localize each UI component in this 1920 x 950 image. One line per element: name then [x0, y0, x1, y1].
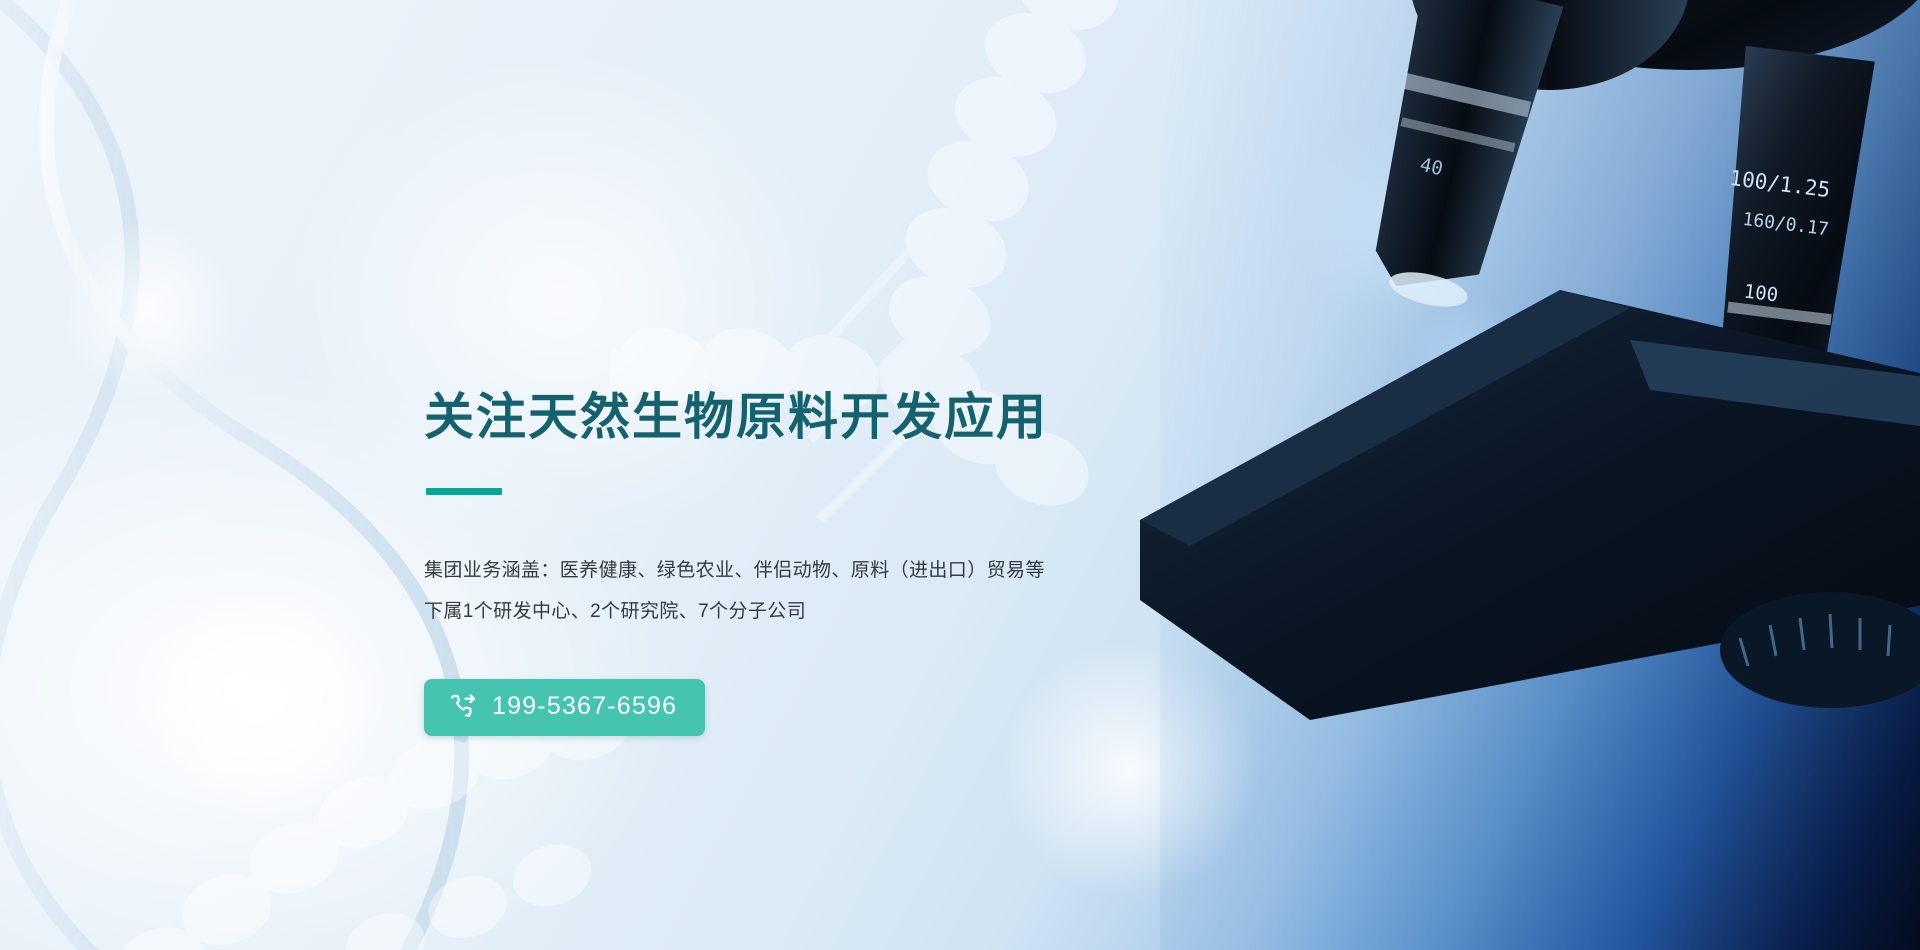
hero-description-line-2: 下属1个研发中心、2个研究院、7个分子公司	[424, 592, 1244, 633]
hero-description-line-1: 集团业务涵盖：医养健康、绿色农业、伴侣动物、原料（进出口）贸易等	[424, 551, 1244, 592]
page-title: 关注天然生物原料开发应用	[424, 390, 1244, 445]
svg-text:100: 100	[1743, 281, 1780, 307]
hero-banner: 40 100/1.25 160/0.17 100	[0, 0, 1920, 950]
blue-haze-overlay	[1160, 0, 1920, 950]
bokeh-orb	[1410, 300, 1530, 420]
svg-text:160/0.17: 160/0.17	[1741, 209, 1830, 240]
hero-content: 关注天然生物原料开发应用 集团业务涵盖：医养健康、绿色农业、伴侣动物、原料（进出…	[424, 390, 1244, 736]
microscope-icon: 40 100/1.25 160/0.17 100	[1130, 0, 1920, 720]
svg-text:40: 40	[1418, 154, 1445, 181]
svg-text:100/1.25: 100/1.25	[1728, 166, 1831, 202]
hero-description: 集团业务涵盖：医养健康、绿色农业、伴侣动物、原料（进出口）贸易等 下属1个研发中…	[424, 551, 1244, 633]
bokeh-orb	[60, 220, 240, 400]
phone-cta-button[interactable]: 199-5367-6596	[424, 679, 705, 736]
bokeh-orb	[150, 590, 380, 820]
title-divider	[426, 488, 502, 495]
phone-forward-icon	[448, 692, 479, 723]
bokeh-orb	[1290, 120, 1490, 320]
phone-number-label: 199-5367-6596	[492, 694, 677, 721]
